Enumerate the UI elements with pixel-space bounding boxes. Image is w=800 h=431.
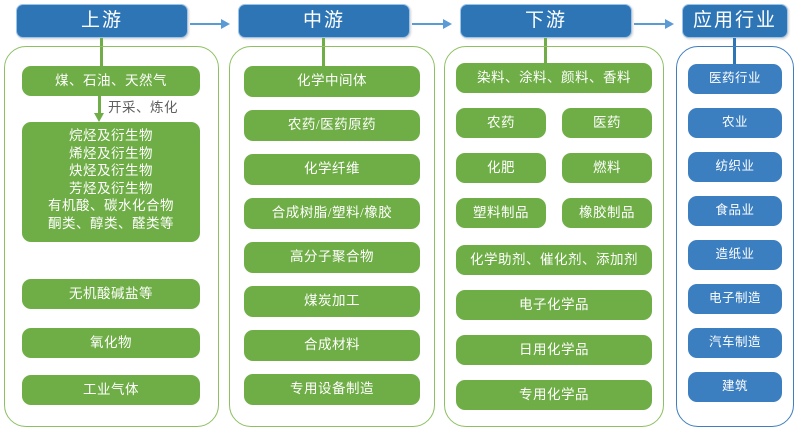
panel-midstream [229, 46, 435, 427]
derivative-line: 芳烃及衍生物 [25, 180, 197, 198]
midstream-item-3[interactable]: 合成树脂/塑料/橡胶 [244, 198, 420, 229]
downstream-item-specialty-chem[interactable]: 专用化学品 [456, 380, 652, 410]
application-item-4[interactable]: 造纸业 [688, 240, 782, 270]
arrow-downstream-to-application-icon [634, 23, 672, 25]
application-item-3[interactable]: 食品业 [688, 196, 782, 226]
derivative-line: 酮类、醇类、醛类等 [25, 215, 197, 233]
derivative-line: 烷烃及衍生物 [25, 127, 197, 145]
downstream-item-plastic-products[interactable]: 塑料制品 [456, 198, 546, 228]
derivative-line: 有机酸、碳水化合物 [25, 197, 197, 215]
panel-downstream [444, 46, 664, 427]
application-item-0[interactable]: 医药行业 [688, 64, 782, 94]
application-item-6[interactable]: 汽车制造 [688, 328, 782, 358]
downstream-item-fuel[interactable]: 燃料 [562, 153, 652, 183]
derivative-line: 烯烃及衍生物 [25, 145, 197, 163]
downstream-item-pesticide[interactable]: 农药 [456, 108, 546, 138]
downstream-item-dyes[interactable]: 染料、涂料、颜料、香料 [456, 63, 652, 93]
downstream-item-daily-chem[interactable]: 日用化学品 [456, 335, 652, 365]
downstream-item-rubber-products[interactable]: 橡胶制品 [562, 198, 652, 228]
midstream-item-6[interactable]: 合成材料 [244, 330, 420, 361]
application-item-1[interactable]: 农业 [688, 108, 782, 138]
midstream-item-1[interactable]: 农药/医药原药 [244, 110, 420, 141]
stage-header-downstream[interactable]: 下游 [460, 4, 632, 38]
process-arrow-icon [98, 96, 101, 114]
downstream-item-fertilizer[interactable]: 化肥 [456, 153, 546, 183]
stage-header-upstream[interactable]: 上游 [16, 4, 188, 38]
downstream-item-additives[interactable]: 化学助剂、催化剂、添加剂 [456, 245, 652, 275]
downstream-item-medicine[interactable]: 医药 [562, 108, 652, 138]
midstream-item-4[interactable]: 高分子聚合物 [244, 242, 420, 273]
industry-chain-diagram: 上游 中游 下游 应用行业 煤、石油、天然气 开采、炼化 烷烃及衍生物 烯烃及衍… [0, 0, 800, 431]
downstream-item-electronic-chem[interactable]: 电子化学品 [456, 290, 652, 320]
application-item-7[interactable]: 建筑 [688, 372, 782, 402]
upstream-process-label: 开采、炼化 [108, 96, 178, 116]
midstream-item-7[interactable]: 专用设备制造 [244, 374, 420, 405]
upstream-item-inorganic[interactable]: 无机酸碱盐等 [22, 279, 200, 309]
upstream-derivatives-box[interactable]: 烷烃及衍生物 烯烃及衍生物 炔烃及衍生物 芳烃及衍生物 有机酸、碳水化合物 酮类… [22, 122, 200, 242]
upstream-feedstock-box[interactable]: 煤、石油、天然气 [22, 66, 200, 96]
derivative-line: 炔烃及衍生物 [25, 162, 197, 180]
application-item-5[interactable]: 电子制造 [688, 284, 782, 314]
panel-application [676, 46, 794, 427]
arrow-midstream-to-downstream-icon [412, 23, 450, 25]
midstream-item-0[interactable]: 化学中间体 [244, 66, 420, 97]
application-item-2[interactable]: 纺织业 [688, 152, 782, 182]
upstream-item-industrial-gas[interactable]: 工业气体 [22, 375, 200, 405]
midstream-item-2[interactable]: 化学纤维 [244, 154, 420, 185]
stage-header-application[interactable]: 应用行业 [682, 4, 788, 38]
midstream-item-5[interactable]: 煤炭加工 [244, 286, 420, 317]
stage-header-row: 上游 中游 下游 应用行业 [0, 4, 800, 38]
arrow-upstream-to-midstream-icon [190, 23, 228, 25]
upstream-item-oxides[interactable]: 氧化物 [22, 328, 200, 358]
stage-header-midstream[interactable]: 中游 [238, 4, 410, 38]
